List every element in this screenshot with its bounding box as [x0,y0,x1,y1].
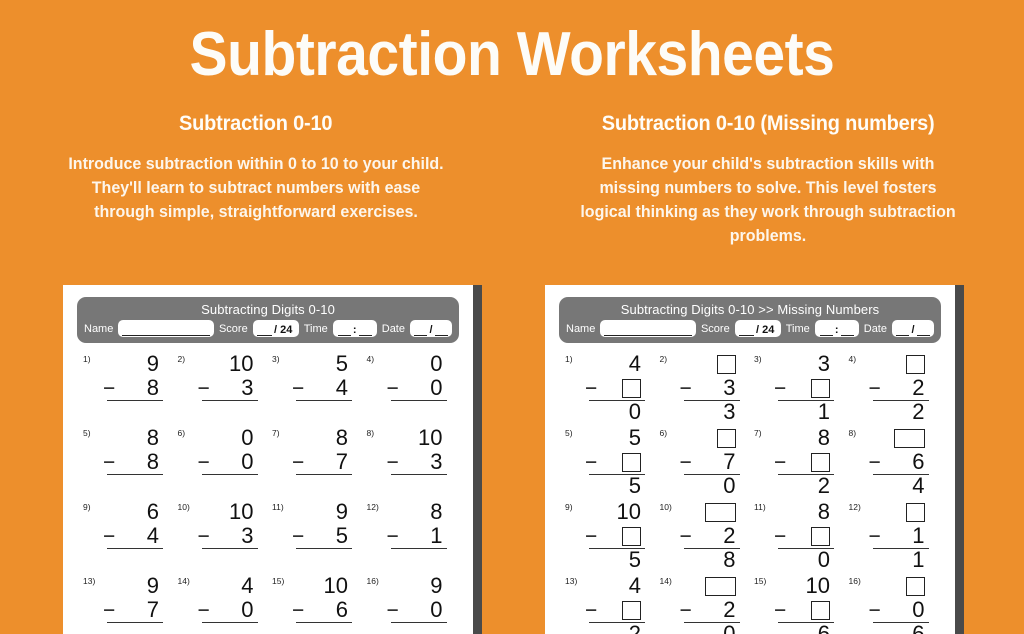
answer-line[interactable]: 1 [867,549,929,575]
problem-body: −06 [867,574,929,634]
subtrahend-missing-box[interactable] [622,379,641,398]
worksheet-title: Subtracting Digits 0-10 >> Missing Numbe… [566,302,934,317]
answer-line[interactable]: 6 [772,623,834,634]
problem-cell: 15)10−6 [268,574,363,634]
worksheet-spine-shadow [473,285,482,634]
subtrahend-value: 2 [723,599,735,621]
minuend-missing-box[interactable] [906,355,925,374]
minus-icon: − [196,452,210,473]
answer-value: 0 [723,623,735,634]
problem-body: 4−2 [583,574,645,634]
answer-line[interactable]: 2 [867,401,929,427]
worksheet-header-bar: Subtracting Digits 0-10 Name Score / 24 … [77,297,459,343]
answer-line[interactable]: 3 [678,401,740,427]
minuend-line: 8 [101,426,163,450]
name-input[interactable] [118,320,214,337]
date-part1-rule [414,325,427,336]
minuend-line: 10 [772,574,834,598]
subtrahend-value: 4 [147,525,159,547]
minuend-line [678,352,740,376]
problem-body: 10−3 [196,352,258,427]
problem-number: 14) [178,576,190,586]
problem-body: 5−4 [290,352,352,427]
problem-body: 9−8 [101,352,163,427]
minuend-missing-box[interactable] [717,429,736,448]
minuend-value: 6 [147,501,159,523]
date-part2-rule [917,325,930,336]
minuend-missing-box[interactable] [717,355,736,374]
answer-line[interactable] [385,623,447,634]
problem-number: 5) [565,428,573,438]
answer-line[interactable]: 0 [772,549,834,575]
worksheet-preview-left[interactable]: Subtracting Digits 0-10 Name Score / 24 … [63,285,473,634]
minuend-line [867,352,929,376]
problem-number: 16) [367,576,379,586]
problem-body: 9−5 [290,500,352,575]
problem-number: 11) [272,502,284,512]
minus-icon: − [772,526,786,547]
subtrahend-line: −0 [196,450,258,474]
minus-icon: − [101,378,115,399]
date-label: Date [864,323,887,335]
problem-cell: 13)9−7 [79,574,174,634]
problem-number: 14) [660,576,672,586]
answer-value: 5 [629,475,641,497]
minuend-missing-box[interactable] [705,503,736,522]
minuend-value: 9 [147,575,159,597]
problem-number: 7) [754,428,762,438]
problem-number: 15) [754,576,766,586]
worksheet-fields: Name Score / 24 Time : Date / [566,320,934,337]
subtrahend-line: −3 [385,450,447,474]
minuend-value: 4 [629,353,641,375]
minuend-value: 10 [229,353,253,375]
subtrahend-value: 7 [723,451,735,473]
answer-line[interactable] [290,549,352,575]
problem-body: −22 [867,352,929,427]
problem-number: 1) [565,354,573,364]
score-label: Score [701,323,730,335]
subtrahend-value: 8 [147,377,159,399]
minus-icon: − [196,526,210,547]
minus-icon: − [196,600,210,621]
problem-number: 6) [660,428,668,438]
score-total: / 24 [754,325,776,336]
name-label: Name [566,323,595,335]
worksheet-page[interactable]: Subtracting Digits 0-10 >> Missing Numbe… [545,285,955,634]
minuend-value: 9 [147,353,159,375]
problem-number: 4) [849,354,857,364]
minuend-line [678,500,740,524]
date-input[interactable]: / [410,320,452,337]
answer-line[interactable] [290,623,352,634]
subtrahend-missing-box[interactable] [622,453,641,472]
subtrahend-value: 4 [336,377,348,399]
minus-icon: − [290,452,304,473]
minus-icon: − [290,378,304,399]
worksheet-title: Subtracting Digits 0-10 [84,302,452,317]
score-input[interactable]: / 24 [253,320,299,337]
problem-cell: 9)10−5 [561,500,656,574]
problem-number: 7) [272,428,280,438]
subtrahend-line: − [583,524,645,548]
column-title: Subtraction 0-10 (Missing numbers) [602,112,935,136]
subtrahend-missing-box[interactable] [811,527,830,546]
minuend-value: 5 [336,353,348,375]
problem-number: 12) [849,502,861,512]
problem-body: 0−0 [385,352,447,427]
problem-body: 10−6 [290,574,352,634]
answer-line[interactable]: 4 [867,475,929,501]
minuend-value: 10 [229,501,253,523]
minus-icon: − [196,378,210,399]
answer-line[interactable]: 1 [772,401,834,427]
minuend-line: 0 [385,352,447,376]
problem-cell: 2)−33 [656,352,751,426]
date-part1-rule [896,325,909,336]
answer-value: 2 [912,401,924,423]
subtrahend-line: − [583,450,645,474]
minus-icon: − [772,452,786,473]
subtrahend-value: 0 [241,451,253,473]
answer-line[interactable]: 0 [678,475,740,501]
worksheet-page[interactable]: Subtracting Digits 0-10 Name Score / 24 … [63,285,473,634]
problem-body: 9−7 [101,574,163,634]
answer-line[interactable] [101,623,163,634]
minus-icon: − [290,526,304,547]
subtrahend-value: 0 [430,599,442,621]
minuend-line: 9 [101,574,163,598]
answer-line[interactable] [196,475,258,501]
minuend-value: 10 [418,427,442,449]
answer-line[interactable]: 0 [678,623,740,634]
problem-cell: 3)3−1 [750,352,845,426]
minuend-value: 8 [818,427,830,449]
subtrahend-line: −7 [678,450,740,474]
minuend-line: 9 [290,500,352,524]
answer-value: 6 [818,623,830,634]
answer-line[interactable] [385,475,447,501]
problem-cell: 12)8−1 [363,500,458,574]
problem-cell: 11)8−0 [750,500,845,574]
minuend-line: 9 [101,352,163,376]
problem-number: 4) [367,354,375,364]
minuend-line: 8 [772,426,834,450]
problem-body: 10−5 [583,500,645,575]
subtrahend-line: − [583,598,645,622]
minus-icon: − [678,600,692,621]
problem-number: 6) [178,428,186,438]
date-separator: / [427,325,434,336]
subtrahend-missing-box[interactable] [622,601,641,620]
minus-icon: − [678,526,692,547]
problem-number: 13) [83,576,95,586]
answer-line[interactable] [196,623,258,634]
subtrahend-missing-box[interactable] [622,527,641,546]
minus-icon: − [772,378,786,399]
answer-line[interactable] [385,549,447,575]
minus-icon: − [867,526,881,547]
answer-line[interactable]: 5 [583,549,645,575]
answer-line[interactable] [290,475,352,501]
problem-cell: 16)−06 [845,574,940,634]
minus-icon: − [583,600,597,621]
problem-number: 10) [660,502,672,512]
name-input[interactable] [600,320,696,337]
problem-cell: 4)−22 [845,352,940,426]
date-label: Date [382,323,405,335]
problem-cell: 15)10−6 [750,574,845,634]
subtrahend-line: −6 [290,598,352,622]
subtrahend-line: −6 [867,450,929,474]
problem-number: 2) [178,354,186,364]
minuend-value: 3 [818,353,830,375]
time-hour-rule [820,325,833,336]
minuend-value: 4 [629,575,641,597]
minus-icon: − [101,452,115,473]
subtrahend-line: −3 [196,524,258,548]
problem-number: 2) [660,354,668,364]
minuend-line: 10 [583,500,645,524]
time-separator: : [833,325,841,336]
answer-value: 1 [912,549,924,571]
problem-cell: 16)9−0 [363,574,458,634]
minus-icon: − [385,526,399,547]
minus-icon: − [867,600,881,621]
subtrahend-value: 3 [430,451,442,473]
minuend-line: 9 [385,574,447,598]
subtrahend-value: 0 [912,599,924,621]
time-label: Time [786,323,810,335]
answer-line[interactable]: 8 [678,549,740,575]
answer-line[interactable] [290,401,352,427]
answer-value: 0 [629,401,641,423]
problem-body: 4−0 [196,574,258,634]
problem-number: 9) [83,502,91,512]
minuend-value: 10 [324,575,348,597]
minuend-line: 10 [385,426,447,450]
name-label: Name [84,323,113,335]
column-title: Subtraction 0-10 [179,112,332,136]
problem-cell: 4)0−0 [363,352,458,426]
minuend-line [867,574,929,598]
subtrahend-value: 6 [336,599,348,621]
minuend-line: 8 [385,500,447,524]
answer-line[interactable]: 5 [583,475,645,501]
worksheet-spine-shadow [955,285,964,634]
answer-line[interactable]: 6 [867,623,929,634]
subtrahend-value: 3 [241,377,253,399]
column-subtraction-missing-numbers: Subtraction 0-10 (Missing numbers) Enhan… [512,112,1024,249]
subtrahend-missing-box[interactable] [811,601,830,620]
minuend-line [678,426,740,450]
minuend-value: 8 [147,427,159,449]
problem-cell: 12)−11 [845,500,940,574]
answer-line[interactable] [101,475,163,501]
problem-cell: 1)4−0 [561,352,656,426]
subtrahend-value: 2 [912,377,924,399]
problem-number: 1) [83,354,91,364]
minuend-line [678,574,740,598]
minus-icon: − [101,526,115,547]
problem-cell: 2)10−3 [174,352,269,426]
answer-value: 8 [723,549,735,571]
answer-value: 5 [629,549,641,571]
answer-value: 2 [818,475,830,497]
subtrahend-value: 0 [241,599,253,621]
column-description: Enhance your child's subtraction skills … [574,153,962,249]
problem-grid: 1)4−02)−333)3−14)−225)5−56)−707)8−28)−64… [557,352,943,634]
subtrahend-line: −8 [101,450,163,474]
subtrahend-line: −0 [867,598,929,622]
problem-number: 8) [849,428,857,438]
problem-number: 11) [754,502,766,512]
problem-number: 15) [272,576,284,586]
answer-line[interactable] [101,401,163,427]
minuend-value: 10 [806,575,830,597]
subtrahend-line: −5 [290,524,352,548]
problem-cell: 8)10−3 [363,426,458,500]
answer-line[interactable] [196,401,258,427]
minuend-line: 4 [196,574,258,598]
problem-cell: 5)8−8 [79,426,174,500]
answer-line[interactable] [385,401,447,427]
problem-cell: 7)8−7 [268,426,363,500]
date-input[interactable]: / [892,320,934,337]
subtrahend-missing-box[interactable] [811,453,830,472]
problem-number: 5) [83,428,91,438]
answer-value: 0 [818,549,830,571]
subtrahend-line: −1 [867,524,929,548]
minuend-value: 5 [629,427,641,449]
problem-body: 4−0 [583,352,645,427]
problem-body: −33 [678,352,740,427]
answer-value: 2 [629,623,641,634]
problem-cell: 5)5−5 [561,426,656,500]
subtrahend-value: 2 [723,525,735,547]
minuend-value: 4 [241,575,253,597]
subtrahend-value: 8 [147,451,159,473]
subtrahend-value: 3 [241,525,253,547]
answer-line[interactable]: 2 [583,623,645,634]
minus-icon: − [583,378,597,399]
subtrahend-line: −2 [678,598,740,622]
subtrahend-missing-box[interactable] [811,379,830,398]
problem-number: 16) [849,576,861,586]
answer-line[interactable] [101,549,163,575]
answer-value: 1 [818,401,830,423]
minuend-line: 0 [196,426,258,450]
subtrahend-value: 3 [723,377,735,399]
minus-icon: − [678,378,692,399]
answer-line[interactable]: 0 [583,401,645,427]
minuend-line: 4 [583,352,645,376]
subtrahend-line: −4 [101,524,163,548]
problem-body: 0−0 [196,426,258,501]
minuend-line: 10 [196,352,258,376]
problem-number: 12) [367,502,379,512]
problem-body: 8−0 [772,500,834,575]
subtrahend-line: −2 [678,524,740,548]
subtrahend-value: 0 [430,377,442,399]
minuend-line [867,500,929,524]
problem-body: 3−1 [772,352,834,427]
minuend-missing-box[interactable] [906,577,925,596]
problem-body: 5−5 [583,426,645,501]
minuend-line: 10 [290,574,352,598]
minuend-missing-box[interactable] [894,429,925,448]
subtrahend-value: 5 [336,525,348,547]
score-total: / 24 [272,325,294,336]
subtrahend-line: − [772,450,834,474]
subtrahend-line: −1 [385,524,447,548]
worksheet-preview-right[interactable]: Subtracting Digits 0-10 >> Missing Numbe… [545,285,955,634]
answer-line[interactable] [196,549,258,575]
minuend-value: 0 [241,427,253,449]
subtrahend-line: −8 [101,376,163,400]
problem-body: 10−3 [385,426,447,501]
problem-body: 9−0 [385,574,447,634]
subtrahend-line: −7 [290,450,352,474]
minuend-value: 0 [430,353,442,375]
problem-cell: 3)5−4 [268,352,363,426]
minus-icon: − [583,526,597,547]
subtrahend-value: 1 [430,525,442,547]
minuend-missing-box[interactable] [906,503,925,522]
name-rule [122,325,210,336]
name-rule [604,325,692,336]
minus-icon: − [583,452,597,473]
minuend-line: 6 [101,500,163,524]
subtrahend-line: − [772,376,834,400]
time-input[interactable]: : [333,320,377,337]
problem-cell: 1)9−8 [79,352,174,426]
subtrahend-line: − [772,598,834,622]
subtrahend-line: −4 [290,376,352,400]
answer-line[interactable]: 2 [772,475,834,501]
problem-body: 8−1 [385,500,447,575]
minuend-line: 5 [290,352,352,376]
problem-number: 13) [565,576,577,586]
problem-body: 8−8 [101,426,163,501]
page-title: Subtraction Worksheets [41,0,983,86]
subtrahend-line: −7 [101,598,163,622]
subtrahend-line: −2 [867,376,929,400]
subtrahend-value: 1 [912,525,924,547]
minuend-line: 8 [772,500,834,524]
subtrahend-value: 6 [912,451,924,473]
time-minute-rule [841,325,854,336]
answer-value: 6 [912,623,924,634]
problem-body: 8−2 [772,426,834,501]
minus-icon: − [101,600,115,621]
time-minute-rule [359,325,372,336]
problem-body: 10−3 [196,500,258,575]
subtrahend-value: 7 [147,599,159,621]
minuend-value: 10 [617,501,641,523]
time-input[interactable]: : [815,320,859,337]
problem-body: 6−4 [101,500,163,575]
problem-cell: 14)4−0 [174,574,269,634]
problem-cell: 10)10−3 [174,500,269,574]
minuend-missing-box[interactable] [705,577,736,596]
problem-body: −28 [678,500,740,575]
minuend-value: 8 [818,501,830,523]
minuend-line: 8 [290,426,352,450]
date-part2-rule [435,325,448,336]
subtrahend-line: − [583,376,645,400]
score-input[interactable]: / 24 [735,320,781,337]
